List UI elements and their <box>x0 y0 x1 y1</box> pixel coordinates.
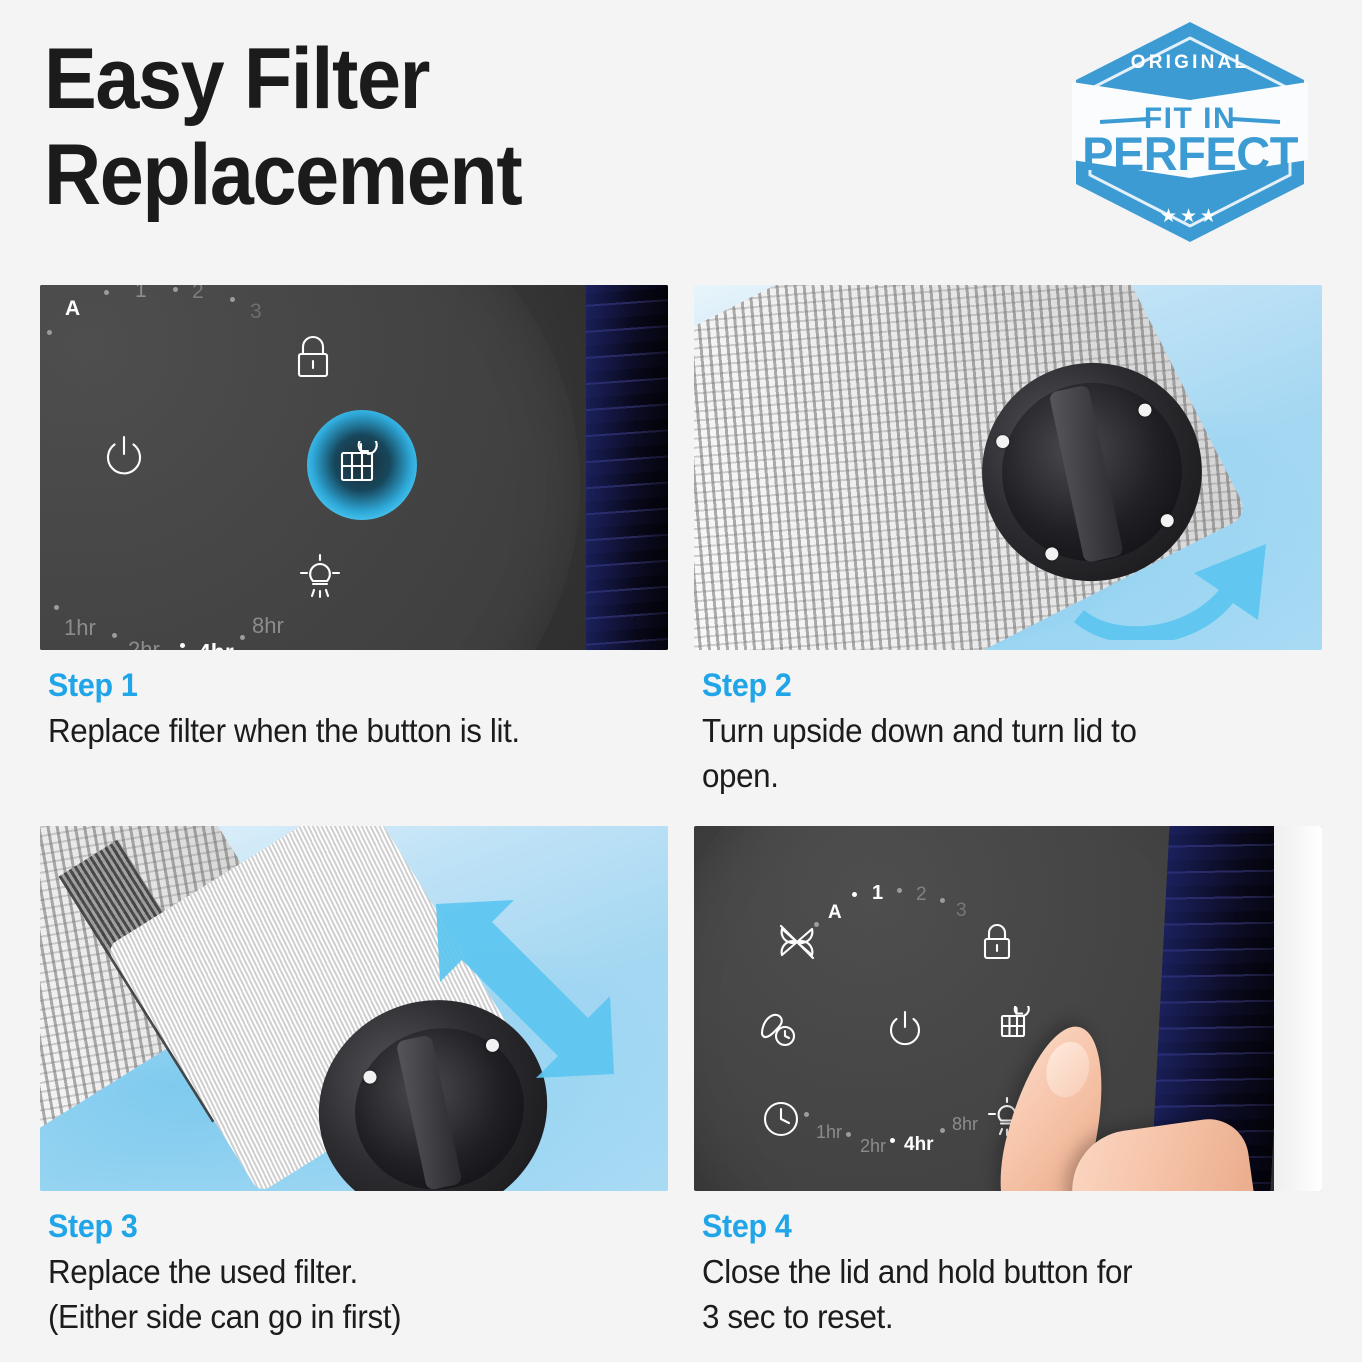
step-2-line-2: open. <box>702 753 1287 798</box>
step-1-label: Step 1 <box>48 666 633 704</box>
fingernail <box>1041 1037 1095 1101</box>
fan-speed-dot-1 <box>104 290 109 295</box>
power-icon <box>100 432 148 480</box>
step-2-description: Turn upside down and turn lid to open. <box>702 708 1287 798</box>
filter-reset-icon[interactable] <box>307 410 417 520</box>
page-title: Easy Filter Replacement <box>44 36 1044 218</box>
step-3-line-1: Replace the used filter. <box>48 1249 633 1294</box>
step-1-description: Replace filter when the button is lit. <box>48 708 633 753</box>
step-4-text: Step 4 Close the lid and hold button for… <box>694 1191 1322 1339</box>
timer-dot-3 <box>940 1128 945 1133</box>
fan-speed-label-A: A <box>65 297 80 321</box>
step-4-description: Close the lid and hold button for 3 sec … <box>702 1249 1287 1339</box>
fan-speed-dot-3 <box>230 297 235 302</box>
fan-speed-dot-2 <box>897 888 902 893</box>
title-line-2: Replacement <box>44 132 964 218</box>
title-line-1: Easy Filter <box>44 36 964 122</box>
timer-label-2hr: 2hr <box>128 637 160 650</box>
timer-dot-0 <box>804 1112 809 1117</box>
fan-speed-dot-3 <box>940 898 945 903</box>
infographic-page: Easy Filter Replacement ORIGINAL FIT IN … <box>0 0 1362 1362</box>
timer-label-4hr: 4hr <box>198 639 234 650</box>
timer-label-4hr: 4hr <box>904 1134 934 1156</box>
badge-main-text: PERFECT <box>1082 127 1299 180</box>
step-2: Step 2 Turn upside down and turn lid to … <box>694 285 1322 798</box>
step-3-photo <box>40 826 668 1191</box>
step-4-photo: A 1 2 3 <box>694 826 1322 1191</box>
photo-blue-background <box>40 826 668 1191</box>
fan-speed-label-1: 1 <box>135 285 147 303</box>
timer-dot-0 <box>54 605 59 610</box>
fan-speed-label-2: 2 <box>916 884 927 906</box>
steps-grid: A 1 2 3 <box>40 285 1322 1339</box>
step-2-label: Step 2 <box>702 666 1287 704</box>
light-icon <box>293 553 347 605</box>
step-3: Step 3 Replace the used filter. (Either … <box>40 826 668 1339</box>
step-3-description: Replace the used filter. (Either side ca… <box>48 1249 633 1339</box>
filter-reset-icon[interactable] <box>998 1006 1038 1044</box>
fit-in-perfect-badge: ORIGINAL FIT IN PERFECT ★★★ <box>1066 18 1314 246</box>
fan-speed-label-2: 2 <box>192 285 204 304</box>
step-2-line-1: Turn upside down and turn lid to <box>702 708 1287 753</box>
double-arrow-icon <box>418 886 648 1096</box>
rotate-arrow-icon <box>1044 440 1294 640</box>
photo-blue-background <box>694 285 1322 650</box>
step-1-line-1: Replace filter when the button is lit. <box>48 708 633 753</box>
badge-stars: ★★★ <box>1160 206 1220 227</box>
fan-speed-label-1: 1 <box>872 882 883 905</box>
step-1: A 1 2 3 <box>40 285 668 798</box>
timer-clock-icon <box>760 1098 802 1140</box>
timer-label-8hr: 8hr <box>252 613 284 639</box>
timer-label-1hr: 1hr <box>816 1122 842 1143</box>
step-2-text: Step 2 Turn upside down and turn lid to … <box>694 650 1322 798</box>
step-4-label: Step 4 <box>702 1207 1287 1245</box>
lock-icon <box>292 333 334 381</box>
fan-speed-dot-2 <box>173 287 178 292</box>
fan-off-icon <box>776 921 818 963</box>
control-panel-surface: A 1 2 3 <box>694 826 1322 1191</box>
fan-speed-dot-0 <box>47 330 52 335</box>
timer-label-8hr: 8hr <box>952 1114 978 1135</box>
fan-speed-label-3: 3 <box>956 900 967 922</box>
fan-speed-dot-1 <box>852 892 857 897</box>
control-panel-surface: A 1 2 3 <box>40 285 668 650</box>
timer-dot-3 <box>240 635 245 640</box>
timer-dot-2 <box>890 1138 895 1143</box>
purifier-outer-shell <box>1274 826 1322 1191</box>
step-4: A 1 2 3 <box>694 826 1322 1339</box>
step-3-line-2: (Either side can go in first) <box>48 1294 633 1339</box>
air-vent <box>586 285 668 650</box>
step-3-text: Step 3 Replace the used filter. (Either … <box>40 1191 668 1339</box>
lock-icon <box>980 922 1014 962</box>
timer-label-2hr: 2hr <box>860 1136 886 1157</box>
timer-dot-2 <box>180 643 185 648</box>
step-1-photo: A 1 2 3 <box>40 285 668 650</box>
sleep-timer-icon <box>756 1008 800 1050</box>
badge-top-text: ORIGINAL <box>1131 52 1250 73</box>
timer-label-1hr: 1hr <box>64 615 96 641</box>
step-2-photo <box>694 285 1322 650</box>
timer-dot-1 <box>846 1132 851 1137</box>
fan-speed-label-3: 3 <box>250 300 262 324</box>
step-1-text: Step 1 Replace filter when the button is… <box>40 650 668 753</box>
step-3-label: Step 3 <box>48 1207 633 1245</box>
step-4-line-1: Close the lid and hold button for <box>702 1249 1287 1294</box>
step-4-line-2: 3 sec to reset. <box>702 1294 1287 1339</box>
power-icon <box>884 1008 926 1050</box>
timer-dot-1 <box>112 633 117 638</box>
fan-speed-label-A: A <box>828 902 842 924</box>
